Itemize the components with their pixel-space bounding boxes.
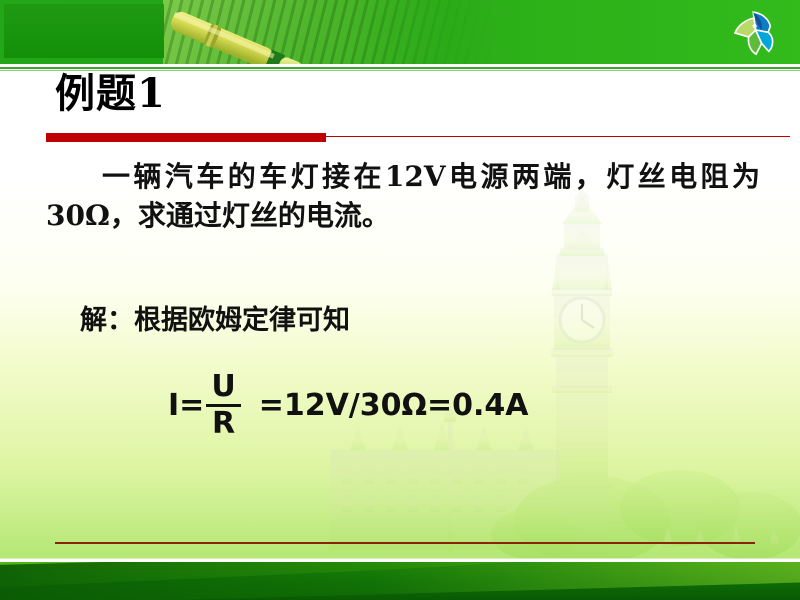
footer-divider-rule xyxy=(55,542,755,544)
photo-fade-overlay xyxy=(163,0,503,64)
footer-band xyxy=(0,562,800,600)
slide: 例题1 一辆汽车的车灯接在12V电源两端，灯丝电阻为30Ω，求通过灯丝的电流。 … xyxy=(0,0,800,600)
formula-fraction: U R xyxy=(206,372,240,439)
title-underline-thick xyxy=(46,133,326,142)
page-title: 例题1 xyxy=(55,72,166,117)
header-left-block xyxy=(4,4,164,58)
ohms-law-formula: I= U R =12V/30Ω=0.4A xyxy=(168,372,529,439)
slide-header-banner xyxy=(0,0,800,64)
leaf-logo xyxy=(730,6,782,58)
formula-left-side: I= xyxy=(168,388,204,423)
problem-statement: 一辆汽车的车灯接在12V电源两端，灯丝电阻为30Ω，求通过灯丝的电流。 xyxy=(46,158,760,235)
pen-on-document-photo xyxy=(163,0,503,64)
formula-right-side: =12V/30Ω=0.4A xyxy=(259,388,529,423)
solution-lead-in: 解：根据欧姆定律可知 xyxy=(80,298,350,337)
footer-wave-dark xyxy=(0,562,800,600)
title-underline-thin xyxy=(326,136,790,137)
formula-numerator: U xyxy=(206,372,240,404)
formula-denominator: R xyxy=(207,407,240,439)
